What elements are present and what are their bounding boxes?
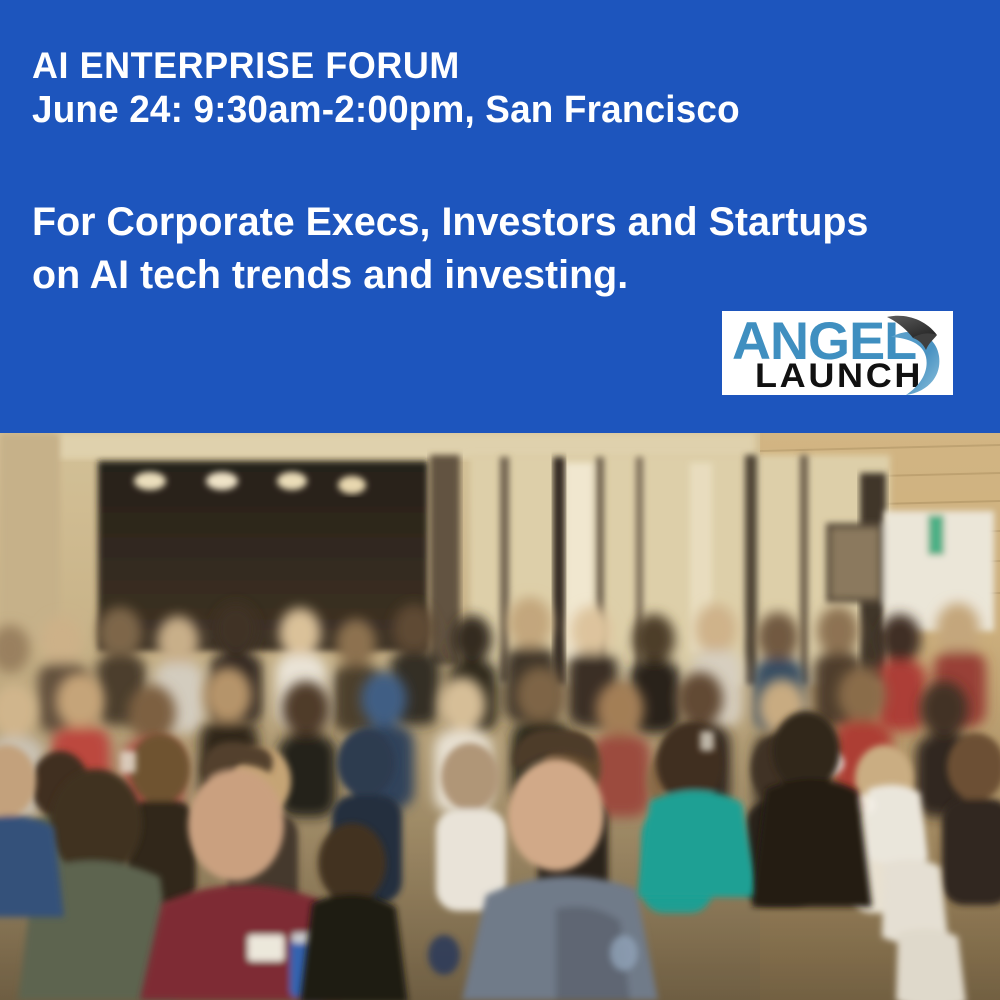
headline-line-2: June 24: 9:30am-2:00pm, San Francisco	[32, 88, 934, 132]
angel-launch-logo[interactable]: ANGEL LAUNCH	[722, 311, 953, 395]
subhead-line-2: on AI tech trends and investing.	[32, 249, 958, 302]
blue-banner: AI ENTERPRISE FORUM June 24: 9:30am-2:00…	[0, 0, 1000, 433]
event-poster: AI ENTERPRISE FORUM June 24: 9:30am-2:00…	[0, 0, 1000, 1000]
headline-line-1: AI ENTERPRISE FORUM	[32, 44, 934, 88]
subhead-block: For Corporate Execs, Investors and Start…	[32, 196, 972, 302]
headline-block: AI ENTERPRISE FORUM June 24: 9:30am-2:00…	[32, 44, 962, 132]
event-photo	[0, 433, 1000, 1000]
swoosh-wing-icon	[873, 311, 951, 395]
subhead-line-1: For Corporate Execs, Investors and Start…	[32, 196, 958, 249]
